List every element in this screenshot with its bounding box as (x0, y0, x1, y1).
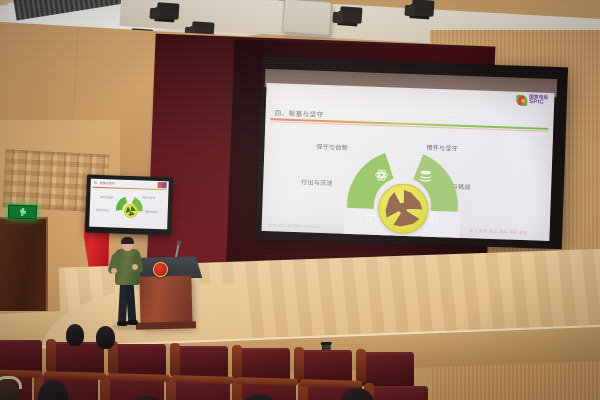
monitor-label-bottom-right: 奉献与挑战 (145, 210, 158, 214)
monitor-label-bottom-left: 付出与沉淀 (96, 208, 109, 212)
horseshoe-diagram (346, 148, 461, 232)
monitor-label-top-left: 保守与创新 (100, 195, 113, 199)
monitor-title-rule (93, 187, 167, 191)
spic-logo-mark (516, 95, 527, 106)
seat (368, 386, 428, 400)
audience-head (66, 324, 84, 346)
slide-footer-left: SPIC 2021 All Rights Reserved (268, 223, 321, 229)
presenter (108, 238, 148, 330)
slide-label-top-left: 保守与创新 (316, 142, 348, 152)
confidence-monitor-screen: 四、根基与坚守 保守与创新 情怀与坚守 付出与沉淀 奉献与挑战 (89, 179, 169, 230)
molecule-icon (365, 209, 379, 223)
monitor-horseshoe-diagram (116, 196, 144, 217)
ceiling-loudspeaker (282, 0, 332, 36)
layers-icon (418, 169, 432, 183)
ceiling-spotlight-icon (339, 6, 362, 23)
ceiling-spotlight-icon (156, 2, 179, 19)
auditorium-photo: 国家电投 SPIC 四、根基与坚守 保守与创新 情怀与坚守 付出与沉淀 奉献与挑… (0, 0, 600, 400)
side-door (0, 217, 48, 311)
monitor-label-top-right: 情怀与坚守 (142, 195, 155, 199)
monitor-logo-icon (158, 182, 167, 188)
monitor-slide-title: 四、根基与坚守 (94, 181, 115, 186)
slide-title: 四、根基与坚守 (274, 107, 323, 119)
emergency-exit-sign (8, 204, 37, 219)
slide-page-number: 12 (539, 232, 544, 237)
slide-label-bottom-left: 付出与沉淀 (301, 177, 333, 187)
monitor-radiation-icon (123, 203, 137, 217)
audience-seating (0, 318, 600, 400)
spic-logo: 国家电投 SPIC (516, 95, 549, 107)
slide-footer-right: 学习 贯彻 落实 推动 高质 高效 (469, 228, 528, 236)
projected-slide: 国家电投 SPIC 四、根基与坚守 保守与创新 情怀与坚守 付出与沉淀 奉献与挑… (262, 83, 555, 241)
seat (360, 352, 414, 386)
atom-icon (374, 168, 388, 182)
slide-title-rule (270, 118, 548, 129)
audience-head (96, 326, 115, 349)
logo-en-text: SPIC (529, 100, 548, 106)
ceiling-spotlight-icon (411, 0, 434, 17)
